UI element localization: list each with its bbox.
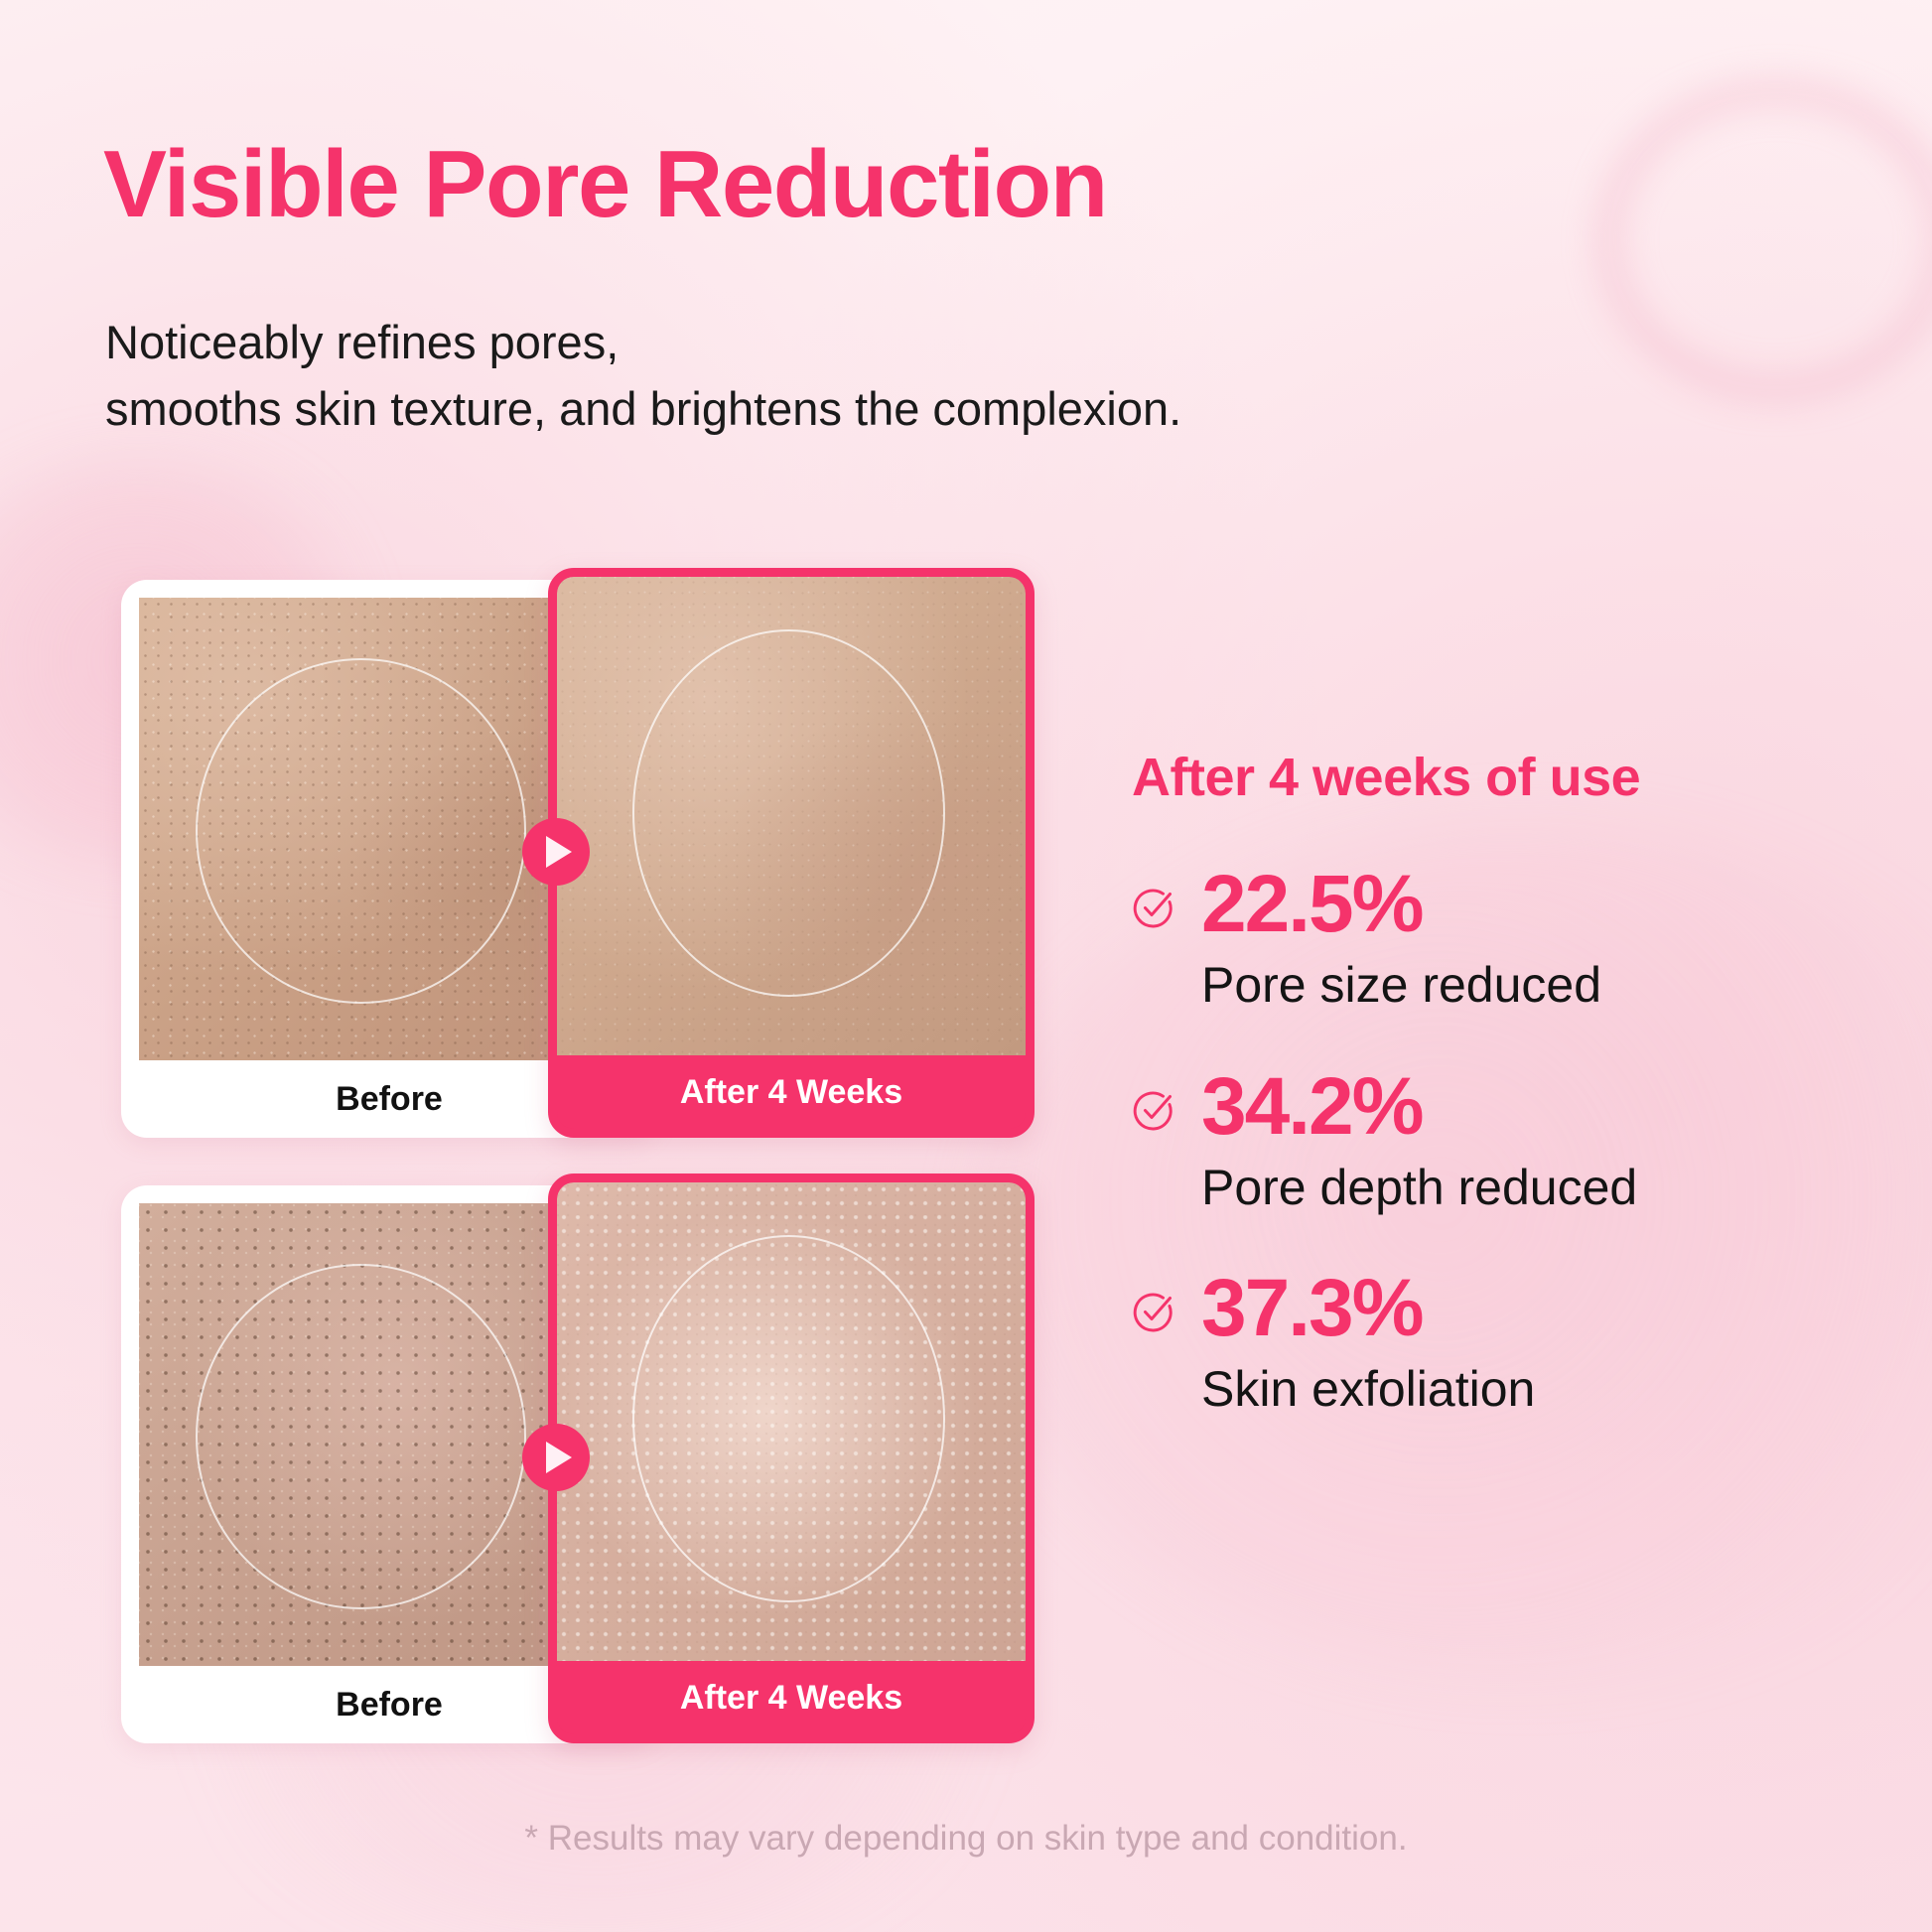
comparison-row-2: Before After 4 Weeks [121, 1173, 1035, 1743]
page-subtitle: Noticeably refines pores, smooths skin t… [105, 310, 1181, 442]
play-icon[interactable] [522, 818, 590, 886]
check-circle-icon [1132, 1290, 1175, 1333]
after-photo-1 [557, 577, 1026, 1055]
after-photo-2 [557, 1182, 1026, 1661]
stat-label: Pore size reduced [1201, 957, 1847, 1015]
results-title: After 4 weeks of use [1132, 747, 1847, 808]
check-circle-icon [1132, 1088, 1175, 1132]
comparison-row-1: Before After 4 Weeks [121, 568, 1035, 1138]
stat-label: Skin exfoliation [1201, 1361, 1847, 1419]
pore-reduction-poster: Visible Pore Reduction Noticeably refine… [0, 0, 1932, 1932]
stat-item: 22.5% Pore size reduced [1132, 864, 1847, 1015]
stat-value: 22.5% [1201, 859, 1423, 949]
disclaimer-note: * Results may vary depending on skin typ… [0, 1819, 1932, 1859]
after-label-1: After 4 Weeks [557, 1055, 1026, 1129]
play-triangle-icon [546, 1442, 572, 1473]
page-title: Visible Pore Reduction [103, 137, 1107, 232]
play-triangle-icon [546, 836, 572, 868]
play-icon[interactable] [522, 1424, 590, 1491]
after-card-1: After 4 Weeks [548, 568, 1035, 1138]
after-card-2: After 4 Weeks [548, 1173, 1035, 1743]
stat-item: 34.2% Pore depth reduced [1132, 1066, 1847, 1217]
check-circle-icon [1132, 886, 1175, 929]
results-panel: After 4 weeks of use 22.5% Pore size red… [1132, 747, 1847, 1419]
after-label-2: After 4 Weeks [557, 1661, 1026, 1734]
stat-label: Pore depth reduced [1201, 1160, 1847, 1217]
stat-item: 37.3% Skin exfoliation [1132, 1268, 1847, 1419]
decorative-ring-top-right [1594, 77, 1932, 403]
stat-value: 34.2% [1201, 1061, 1423, 1152]
stat-value: 37.3% [1201, 1263, 1423, 1353]
